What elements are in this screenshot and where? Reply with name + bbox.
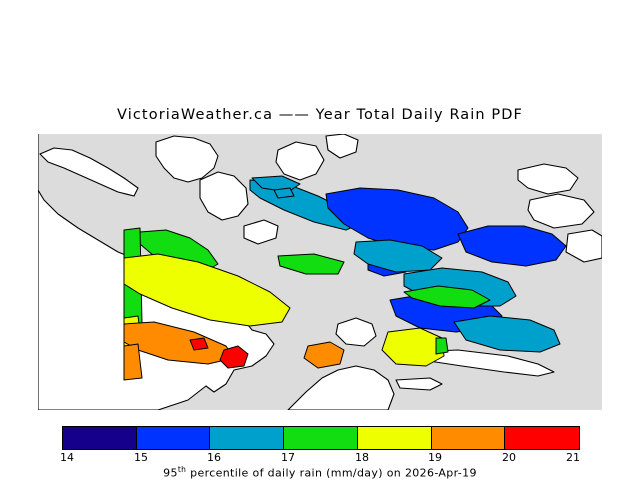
colorbar-caption-prefix: 95 (163, 467, 178, 480)
colorbar-segment-3 (283, 427, 358, 449)
colorbar-segment-0 (63, 427, 137, 449)
colorbar-caption-suffix: percentile of daily rain (mm/day) on 202… (186, 467, 477, 480)
colorbar-tick-19: 19 (428, 451, 442, 464)
colorbar-tick-14: 14 (60, 451, 74, 464)
colorbar-segment-4 (357, 427, 432, 449)
page-title: VictoriaWeather.ca —— Year Total Daily R… (0, 107, 640, 123)
rainfall-choropleth-map (38, 134, 602, 410)
colorbar-tick-18: 18 (355, 451, 369, 464)
colorbar-tick-20: 20 (502, 451, 516, 464)
colorbar-tick-17: 17 (281, 451, 295, 464)
colorbar-segment-1 (136, 427, 211, 449)
colorbar-caption: 95th percentile of daily rain (mm/day) o… (0, 465, 640, 480)
colorbar-gradient (62, 426, 580, 450)
colorbar-legend: 14 15 16 17 18 19 20 21 95th percentile … (0, 424, 640, 480)
colorbar-tick-labels: 14 15 16 17 18 19 20 21 (0, 451, 640, 465)
colorbar-tick-16: 16 (207, 451, 221, 464)
map-panel (38, 134, 602, 410)
colorbar-segment-5 (431, 427, 506, 449)
colorbar-tick-21: 21 (566, 451, 580, 464)
region-teal-speck-north (274, 188, 294, 198)
colorbar-tick-15: 15 (134, 451, 148, 464)
region-discovery-island-green-edge (436, 338, 448, 354)
colorbar-segment-2 (209, 427, 284, 449)
colorbar-segment-6 (504, 427, 579, 449)
